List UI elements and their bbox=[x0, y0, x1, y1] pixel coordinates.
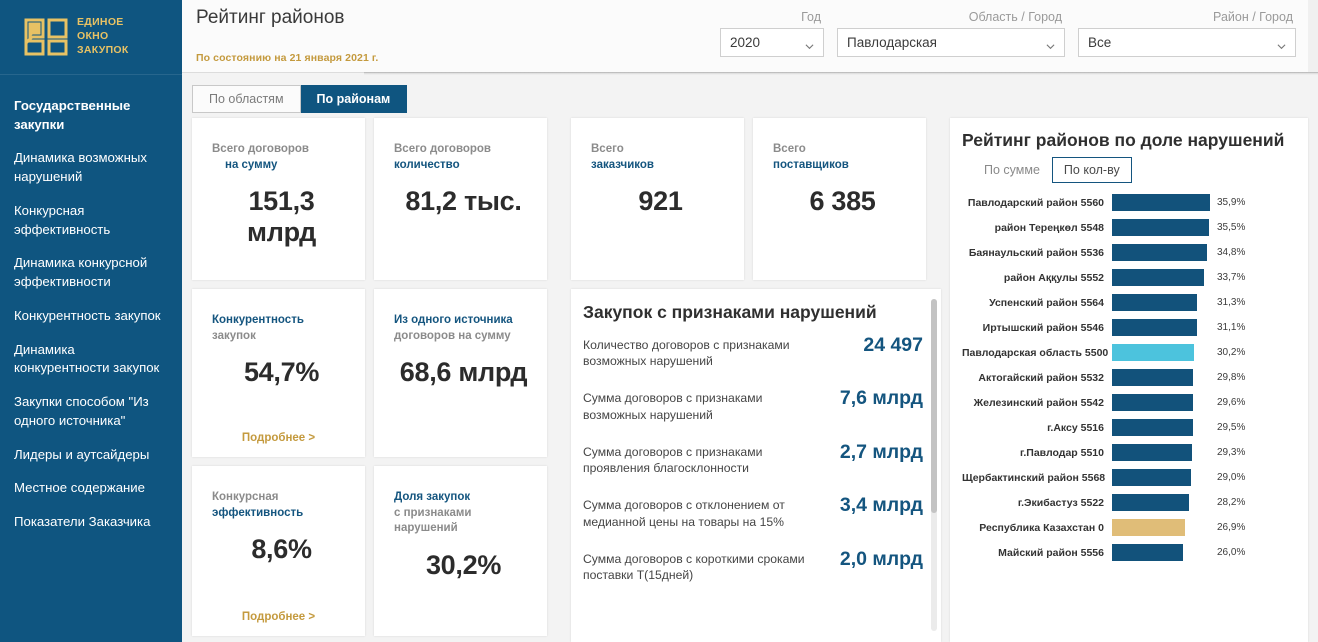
kpi-title-line2: с признаками нарушений bbox=[394, 506, 533, 537]
ranking-row-value: 26,9% bbox=[1217, 522, 1245, 533]
kpi-value: 921 bbox=[591, 186, 730, 217]
ranking-row[interactable]: район Аққулы 555233,7% bbox=[962, 265, 1294, 290]
kpi-value: 68,6 млрд bbox=[394, 357, 533, 388]
logo-line-3: ЗАКУПОК bbox=[77, 44, 129, 58]
sidebar-item-mestnoe-soderzhanie[interactable]: Местное содержание bbox=[0, 479, 182, 498]
kpi-row-3: Конкурсная эффективность 8,6% Подробнее … bbox=[192, 466, 562, 636]
sidebar-item-dinamika-narusheniy[interactable]: Динамика возможных нарушений bbox=[0, 149, 182, 186]
ranking-row-label: район Аққулы 5552 bbox=[962, 272, 1112, 284]
violations-row-value: 2,0 млрд bbox=[840, 548, 923, 571]
ranking-bar[interactable] bbox=[1112, 319, 1197, 336]
violations-panel: Закупок с признаками нарушений Количеств… bbox=[571, 289, 941, 642]
ranking-panel: Рейтинг районов по доле нарушений По сум… bbox=[950, 118, 1308, 642]
ranking-title: Рейтинг районов по доле нарушений bbox=[962, 130, 1294, 151]
ranking-bar[interactable] bbox=[1112, 544, 1183, 561]
ranking-bar-track bbox=[1112, 219, 1210, 236]
ranking-bar[interactable] bbox=[1112, 244, 1207, 261]
page-scrollbar[interactable] bbox=[1308, 0, 1318, 72]
ranking-row-label: Майский район 5556 bbox=[962, 547, 1112, 559]
kpi-single-source-sum: Из одного источника договоров на сумму 6… bbox=[374, 289, 547, 457]
kpi-more-link[interactable]: Подробнее > bbox=[192, 611, 365, 623]
ranking-row[interactable]: Железинский район 554229,6% bbox=[962, 390, 1294, 415]
ranking-bar[interactable] bbox=[1112, 194, 1210, 211]
ranking-bar-track bbox=[1112, 269, 1210, 286]
violations-title: Закупок с признаками нарушений bbox=[571, 302, 941, 323]
ranking-row-value: 30,2% bbox=[1217, 347, 1245, 358]
ranking-row-value: 29,6% bbox=[1217, 397, 1245, 408]
kpi-row-1: Всего договоров на сумму 151,3 млрд Всег… bbox=[192, 118, 562, 280]
middle-column: Всего заказчиков 921 Всего поставщиков 6… bbox=[571, 118, 941, 642]
sidebar-item-konkurentnost-zakupok[interactable]: Конкурентность закупок bbox=[0, 307, 182, 326]
kpi-title-line1: Всего договоров bbox=[212, 142, 351, 158]
ranking-bar-track bbox=[1112, 244, 1210, 261]
ranking-tab-po-kolvu[interactable]: По кол-ву bbox=[1052, 157, 1132, 183]
violations-row-label: Сумма договоров с отклонением от медианн… bbox=[583, 497, 815, 529]
sidebar-item-konkursnaya-effektivnost[interactable]: Конкурсная эффективность bbox=[0, 202, 182, 239]
ranking-bar-track bbox=[1112, 194, 1210, 211]
chevron-down-icon bbox=[1046, 39, 1055, 48]
kpi-violation-share: Доля закупок с признаками нарушений 30,2… bbox=[374, 466, 547, 636]
kpi-tender-efficiency: Конкурсная эффективность 8,6% Подробнее … bbox=[192, 466, 365, 636]
sidebar-item-gos-zakupki[interactable]: Государственные закупки bbox=[0, 97, 182, 134]
ranking-row-label: район Тереңкөл 5548 bbox=[962, 222, 1112, 234]
ranking-row-value: 35,9% bbox=[1217, 197, 1245, 208]
violations-scrollbar[interactable] bbox=[931, 299, 937, 631]
kpi-value: 8,6% bbox=[212, 534, 351, 565]
ranking-toggle: По сумме По кол-ву bbox=[972, 157, 1294, 183]
kpi-column-left: Всего договоров на сумму 151,3 млрд Всег… bbox=[192, 118, 562, 642]
ranking-row-label: г.Павлодар 5510 bbox=[962, 447, 1112, 459]
ranking-bar[interactable] bbox=[1112, 369, 1193, 386]
ranking-row-value: 33,7% bbox=[1217, 272, 1245, 283]
violations-row-value: 2,7 млрд bbox=[840, 441, 923, 464]
kpi-title-line2: количество bbox=[394, 158, 533, 174]
ranking-row-label: Павлодарский район 5560 bbox=[962, 197, 1112, 209]
kpi-title-line2: закупок bbox=[212, 329, 351, 345]
ranking-bar-track bbox=[1112, 519, 1210, 536]
violations-row-label: Сумма договоров с признаками возможных н… bbox=[583, 390, 815, 422]
ranking-row-label: Успенский район 5564 bbox=[962, 297, 1112, 309]
ranking-bar-track bbox=[1112, 544, 1210, 561]
kpi-title-line2: договоров на сумму bbox=[394, 329, 533, 345]
violations-row-label: Количество договоров с признаками возмож… bbox=[583, 337, 815, 369]
ranking-row[interactable]: Павлодарский район 556035,9% bbox=[962, 190, 1294, 215]
kpi-title-line1: Всего bbox=[773, 142, 912, 158]
ranking-row-value: 31,3% bbox=[1217, 297, 1245, 308]
main-area: Рейтинг районов По состоянию на 21 январ… bbox=[182, 0, 1318, 642]
ranking-bar[interactable] bbox=[1112, 519, 1185, 536]
ranking-row-label: Железинский район 5542 bbox=[962, 397, 1112, 409]
ranking-bar-chart: Павлодарский район 556035,9%район Тереңк… bbox=[962, 190, 1294, 565]
sidebar-item-pokazateli-zakazchika[interactable]: Показатели Заказчика bbox=[0, 513, 182, 532]
kpi-title-line1: Всего договоров bbox=[394, 142, 533, 158]
violations-row: Сумма договоров с отклонением от медианн… bbox=[583, 497, 923, 529]
topbar: Рейтинг районов По состоянию на 21 январ… bbox=[182, 0, 1318, 73]
sidebar: ЕДИНОЕ ОКНО ЗАКУПОК Государственные заку… bbox=[0, 0, 182, 642]
ranking-bar[interactable] bbox=[1112, 444, 1192, 461]
kpi-title-line2: на сумму bbox=[212, 158, 351, 174]
view-tabs: По областям По районам bbox=[192, 85, 407, 113]
page-title: Рейтинг районов bbox=[196, 7, 345, 29]
kpi-competition-share: Конкурентность закупок 54,7% Подробнее > bbox=[192, 289, 365, 457]
kpi-value: 30,2% bbox=[394, 550, 533, 581]
ranking-row[interactable]: Актогайский район 553229,8% bbox=[962, 365, 1294, 390]
ranking-bar[interactable] bbox=[1112, 294, 1197, 311]
ranking-row[interactable]: район Тереңкөл 554835,5% bbox=[962, 215, 1294, 240]
violations-scrollbar-thumb[interactable] bbox=[931, 299, 937, 513]
kpi-title-line1: Всего bbox=[591, 142, 730, 158]
ranking-bar-track bbox=[1112, 494, 1210, 511]
kpi-row-top-right: Всего заказчиков 921 Всего поставщиков 6… bbox=[571, 118, 941, 280]
ranking-bar[interactable] bbox=[1112, 219, 1209, 236]
violations-row: Сумма договоров с короткими сроками пост… bbox=[583, 551, 923, 583]
year-select-value: 2020 bbox=[730, 35, 760, 50]
district-select-value: Все bbox=[1088, 35, 1111, 50]
kpi-total-contracts-sum: Всего договоров на сумму 151,3 млрд bbox=[192, 118, 365, 280]
ranking-row-value: 29,5% bbox=[1217, 422, 1245, 433]
filter-region-label: Область / Город bbox=[837, 10, 1065, 24]
filter-district: Район / Город Все bbox=[1078, 10, 1296, 57]
ranking-bar-track bbox=[1112, 344, 1210, 361]
kpi-value: 6 385 bbox=[773, 186, 912, 217]
ranking-row-label: Иртышский район 5546 bbox=[962, 322, 1112, 334]
sidebar-nav: Государственные закупки Динамика возможн… bbox=[0, 75, 182, 532]
ranking-row[interactable]: Иртышский район 554631,1% bbox=[962, 315, 1294, 340]
ranking-row-value: 28,2% bbox=[1217, 497, 1245, 508]
sidebar-item-lidery-autsaydery[interactable]: Лидеры и аутсайдеры bbox=[0, 446, 182, 465]
ranking-row[interactable]: г.Павлодар 551029,3% bbox=[962, 440, 1294, 465]
ranking-row-label: Баянаульский район 5536 bbox=[962, 247, 1112, 259]
violations-list: Количество договоров с признаками возмож… bbox=[571, 337, 941, 583]
ranking-tab-po-summe[interactable]: По сумме bbox=[972, 157, 1052, 183]
chevron-down-icon bbox=[805, 39, 814, 48]
ranking-bar[interactable] bbox=[1112, 419, 1193, 436]
kpi-value: 151,3 млрд bbox=[212, 186, 351, 248]
sidebar-item-dinamika-konkursnoy-effektivnosti[interactable]: Динамика конкурсной эффективности bbox=[0, 254, 182, 291]
violations-row-value: 3,4 млрд bbox=[840, 494, 923, 517]
sidebar-item-dinamika-konkurentnosti[interactable]: Динамика конкурентности закупок bbox=[0, 341, 182, 378]
logo-squares-icon bbox=[24, 18, 68, 56]
logo-wordmark: ЕДИНОЕ ОКНО ЗАКУПОК bbox=[77, 16, 129, 58]
ranking-row[interactable]: Успенский район 556431,3% bbox=[962, 290, 1294, 315]
ranking-row[interactable]: Республика Казахстан 026,9% bbox=[962, 515, 1294, 540]
kpi-title-line2: эффективность bbox=[212, 506, 351, 522]
kpi-more-link[interactable]: Подробнее > bbox=[192, 432, 365, 444]
dashboard-root: ЕДИНОЕ ОКНО ЗАКУПОК Государственные заку… bbox=[0, 0, 1318, 642]
kpi-value: 81,2 тыс. bbox=[394, 186, 533, 217]
violations-row-label: Сумма договоров с признаками проявления … bbox=[583, 444, 815, 476]
ranking-bar-track bbox=[1112, 419, 1210, 436]
kpi-title-line2: заказчиков bbox=[591, 158, 730, 174]
ranking-row[interactable]: Щербактинский район 556829,0% bbox=[962, 465, 1294, 490]
kpi-title-line1: Конкурсная bbox=[212, 490, 351, 506]
filter-year: Год 2020 bbox=[720, 10, 824, 57]
kpi-total-contracts-count: Всего договоров количество 81,2 тыс. bbox=[374, 118, 547, 280]
violations-row-label: Сумма договоров с короткими сроками пост… bbox=[583, 551, 815, 583]
region-select-value: Павлодарская bbox=[847, 35, 937, 50]
ranking-row[interactable]: г.Экибастуз 552228,2% bbox=[962, 490, 1294, 515]
tab-po-rayonam[interactable]: По районам bbox=[301, 85, 408, 113]
ranking-bar-track bbox=[1112, 369, 1210, 386]
district-select[interactable]: Все bbox=[1078, 28, 1296, 57]
violations-row-value: 7,6 млрд bbox=[840, 387, 923, 410]
kpi-title-line1: Из одного источника bbox=[394, 313, 533, 329]
ranking-row-value: 29,0% bbox=[1217, 472, 1245, 483]
ranking-row-value: 34,8% bbox=[1217, 247, 1245, 258]
ranking-bar-track bbox=[1112, 394, 1210, 411]
filter-bar: Год 2020 Область / Город Павлодарская bbox=[720, 10, 1296, 57]
violations-row: Сумма договоров с признаками возможных н… bbox=[583, 390, 923, 422]
sidebar-item-iz-odnogo-istochnika[interactable]: Закупки способом "Из одного источника" bbox=[0, 393, 182, 430]
kpi-title-line1: Конкурентность bbox=[212, 313, 351, 329]
ranking-row-label: Щербактинский район 5568 bbox=[962, 472, 1112, 484]
page-subtitle: По состоянию на 21 января 2021 г. bbox=[196, 52, 378, 64]
kpi-row-2: Конкурентность закупок 54,7% Подробнее >… bbox=[192, 289, 562, 457]
filter-year-label: Год bbox=[720, 10, 824, 24]
year-select[interactable]: 2020 bbox=[720, 28, 824, 57]
ranking-row-label: Республика Казахстан 0 bbox=[962, 522, 1112, 534]
violations-row: Сумма договоров с признаками проявления … bbox=[583, 444, 923, 476]
ranking-row-label: г.Экибастуз 5522 bbox=[962, 497, 1112, 509]
kpi-total-customers: Всего заказчиков 921 bbox=[571, 118, 744, 280]
filter-district-label: Район / Город bbox=[1078, 10, 1296, 24]
ranking-bar[interactable] bbox=[1112, 344, 1194, 361]
ranking-row[interactable]: г.Аксу 551629,5% bbox=[962, 415, 1294, 440]
dashboard-content: Всего договоров на сумму 151,3 млрд Всег… bbox=[182, 118, 1318, 642]
ranking-row[interactable]: Баянаульский район 553634,8% bbox=[962, 240, 1294, 265]
ranking-bar-track bbox=[1112, 469, 1210, 486]
kpi-value: 54,7% bbox=[212, 357, 351, 388]
ranking-bar[interactable] bbox=[1112, 394, 1193, 411]
region-select[interactable]: Павлодарская bbox=[837, 28, 1065, 57]
ranking-bar[interactable] bbox=[1112, 494, 1189, 511]
ranking-row-label: Актогайский район 5532 bbox=[962, 372, 1112, 384]
violations-row-value: 24 497 bbox=[863, 334, 923, 357]
ranking-bar[interactable] bbox=[1112, 269, 1204, 286]
tab-po-oblastyam[interactable]: По областям bbox=[192, 85, 301, 113]
ranking-bar[interactable] bbox=[1112, 469, 1191, 486]
ranking-bar-track bbox=[1112, 294, 1210, 311]
kpi-title-line2: поставщиков bbox=[773, 158, 912, 174]
chevron-down-icon bbox=[1277, 39, 1286, 48]
ranking-row-value: 31,1% bbox=[1217, 322, 1245, 333]
kpi-title-line1: Доля закупок bbox=[394, 490, 533, 506]
violations-row: Количество договоров с признаками возмож… bbox=[583, 337, 923, 369]
ranking-row[interactable]: Майский район 555626,0% bbox=[962, 540, 1294, 565]
ranking-row-label: г.Аксу 5516 bbox=[962, 422, 1112, 434]
ranking-row-value: 29,8% bbox=[1217, 372, 1245, 383]
ranking-row-label: Павлодарская область 5500 bbox=[962, 347, 1112, 359]
ranking-row-value: 26,0% bbox=[1217, 547, 1245, 558]
ranking-bar-track bbox=[1112, 319, 1210, 336]
ranking-row-value: 29,3% bbox=[1217, 447, 1245, 458]
filter-region: Область / Город Павлодарская bbox=[837, 10, 1065, 57]
ranking-bar-track bbox=[1112, 444, 1210, 461]
logo-line-2: ОКНО bbox=[77, 30, 129, 44]
kpi-total-suppliers: Всего поставщиков 6 385 bbox=[753, 118, 926, 280]
logo-line-1: ЕДИНОЕ bbox=[77, 16, 129, 30]
ranking-row[interactable]: Павлодарская область 550030,2% bbox=[962, 340, 1294, 365]
ranking-row-value: 35,5% bbox=[1217, 222, 1245, 233]
logo[interactable]: ЕДИНОЕ ОКНО ЗАКУПОК bbox=[0, 0, 182, 74]
